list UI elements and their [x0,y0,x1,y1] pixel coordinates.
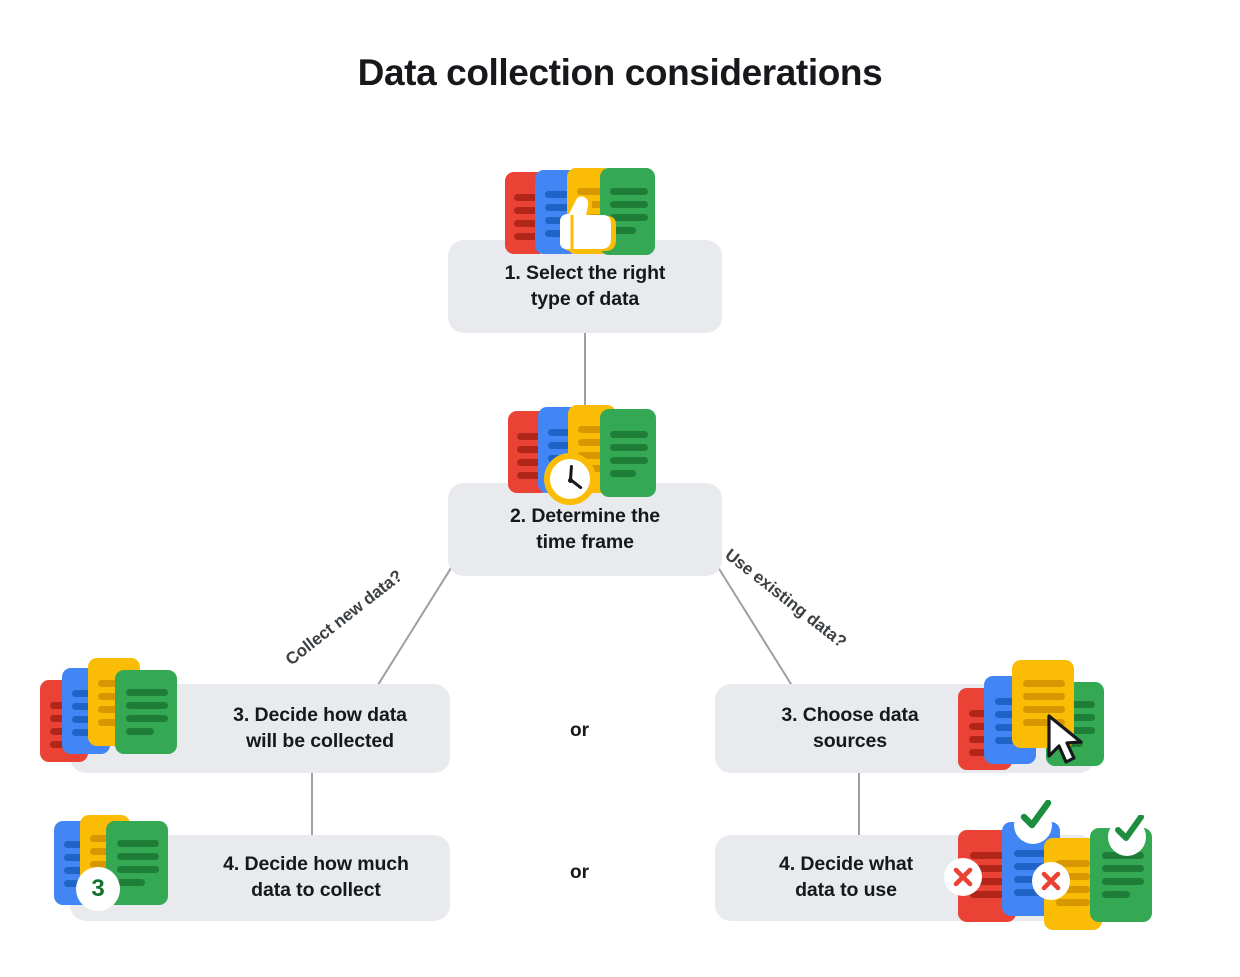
connector-left-step3-step4 [311,773,313,835]
card-stack-check-x-icon [958,812,1156,930]
node-step-3-right-label: 3. Choose data sources [769,703,930,754]
clock-icon [544,453,596,505]
or-label-upper: or [570,720,589,742]
count-badge-value: 3 [91,877,104,901]
x-glyph [952,866,974,888]
thumbs-up-icon [547,196,621,258]
or-label-lower: or [570,862,589,884]
x-glyph [1040,870,1062,892]
node-step-4-right-label: 4. Decide what data to use [767,852,925,903]
approve-check-icon-green [1108,818,1146,856]
page-title: Data collection considerations [0,52,1240,94]
node-step-3-left-label: 3. Decide how data will be collected [221,703,419,754]
card-stack-clock-icon [508,405,656,497]
connector-right-step3-step4 [858,773,860,835]
branch-label-use-existing-data: Use existing data? [721,545,850,652]
reject-x-icon-yellow [1032,862,1070,900]
check-glyph [1114,815,1144,845]
diagram-canvas: Data collection considerations Collect n… [0,0,1240,977]
cursor-arrow-icon [1046,714,1092,766]
card-stack-count-badge-icon: 3 [54,815,184,925]
node-step-4-left-label: 4. Decide how much data to collect [211,852,421,903]
connector-step1-step2 [584,333,586,406]
reject-x-icon-red [944,858,982,896]
check-glyph [1018,800,1052,834]
card-stack-cursor-icon [958,660,1108,772]
branch-label-collect-new-data: Collect new data? [282,566,407,670]
card-stack-thumbs-up-icon [505,168,655,258]
card-stack-icon [40,652,192,762]
card-green [115,670,177,754]
node-step-2-label: 2. Determine the time frame [498,504,672,555]
count-badge: 3 [76,867,120,911]
approve-check-icon-blue [1014,806,1052,844]
node-step-1-label: 1. Select the right type of data [493,261,678,312]
card-green [600,409,656,497]
